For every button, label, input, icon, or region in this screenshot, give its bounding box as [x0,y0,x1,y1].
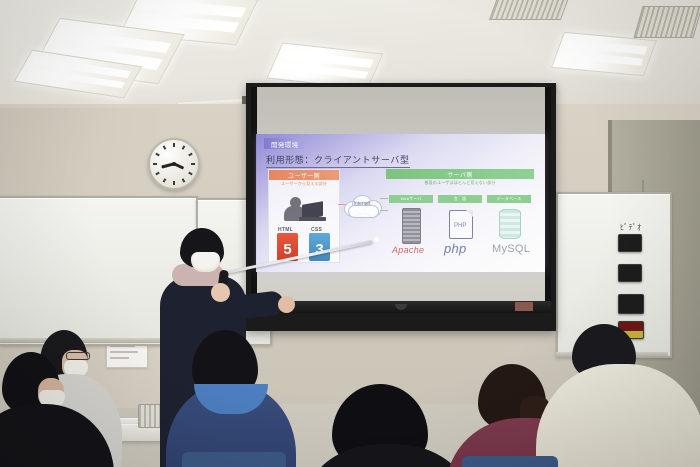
whiteboard-note-text: ﾋﾞﾃﾞｵ [620,222,642,233]
server-panel-header: サーバ側 [386,169,534,179]
user-person-laptop-icon [283,197,325,223]
student-front-left [0,352,104,467]
pointer-tip-highlight [374,237,379,242]
ceiling-vent-1 [489,0,571,20]
internet-cloud-icon: Internet [342,194,382,216]
chair-back-blue [182,452,286,467]
projected-slide: 開発環境 利用形態：クライアントサーバ型 ユーザー側 ユーザーから見える部分 H… [256,134,545,272]
student-cream-sweater-shoulders [536,364,700,467]
slide-server-panel: サーバ側 普段のユーザはほとんど見えない部分 Webサーバ 言 語 データベース… [386,169,534,261]
clock-center-pin [172,162,176,166]
server-panel-subtitle: 普段のユーザはほとんど見えない部分 [386,180,534,186]
ceiling-vent-2 [633,6,700,38]
slide-heading: 利用形態：クライアントサーバ型 [266,153,410,168]
database-cylinder-icon [499,209,521,239]
html5-icon-text: 5 [283,241,291,258]
slide-title-text: 開発環境 [271,139,299,149]
screen-bottom-bar [251,301,551,313]
presenter-mic-hand [211,283,230,302]
student-center-dark-hair [318,384,458,467]
chair-back-blue-2 [462,456,558,467]
whiteboard-eraser-3[interactable] [618,294,644,314]
student-blue-hoodie [170,330,292,467]
projection-screen: 開発環境 利用形態：クライアントサーバ型 ユーザー側 ユーザーから見える部分 H… [246,83,556,331]
screen-right-rail [545,87,551,313]
php-brand: php [444,241,467,256]
presenter-hand [278,296,295,313]
server-col-header-web: Webサーバ [389,195,433,203]
server-col-header-db: データベース [487,195,531,203]
web-server-rack-icon [402,208,421,244]
php-file-icon-text: PHP [454,223,466,229]
wall-clock [148,138,200,190]
projection-screen-surface: 開発環境 利用形態：クライアントサーバ型 ユーザー側 ユーザーから見える部分 H… [251,87,551,313]
student-center-dark-hair-shoulders [306,444,470,467]
screen-pull-knob[interactable] [395,304,407,310]
screen-side-tab [515,302,533,311]
user-panel-header: ユーザー側 [269,170,339,180]
ceiling-light-5 [551,32,657,76]
php-file-icon: PHP [449,210,473,239]
mysql-brand: MySQL [492,243,530,255]
server-col-header-lang: 言 語 [438,195,482,203]
presenter-face-mask [191,252,220,272]
slide-title-bar: 開発環境 [264,138,306,149]
user-panel-subtitle: ユーザーから見える部分 [269,181,339,187]
apache-brand: Apache [392,245,424,255]
css3-icon: 3 [309,233,330,261]
classroom-photo-scene: ﾋﾞﾃﾞｵ 開発環境 利用形態：クライアントサーバ型 ユーザー側 ユーザーから見… [0,0,700,467]
student-cream-sweater [536,338,696,467]
student-front-left-shoulders [0,404,114,467]
whiteboard-eraser-1[interactable] [618,234,642,252]
internet-cloud-label: Internet [342,201,382,207]
whiteboard-eraser-2[interactable] [618,264,642,282]
